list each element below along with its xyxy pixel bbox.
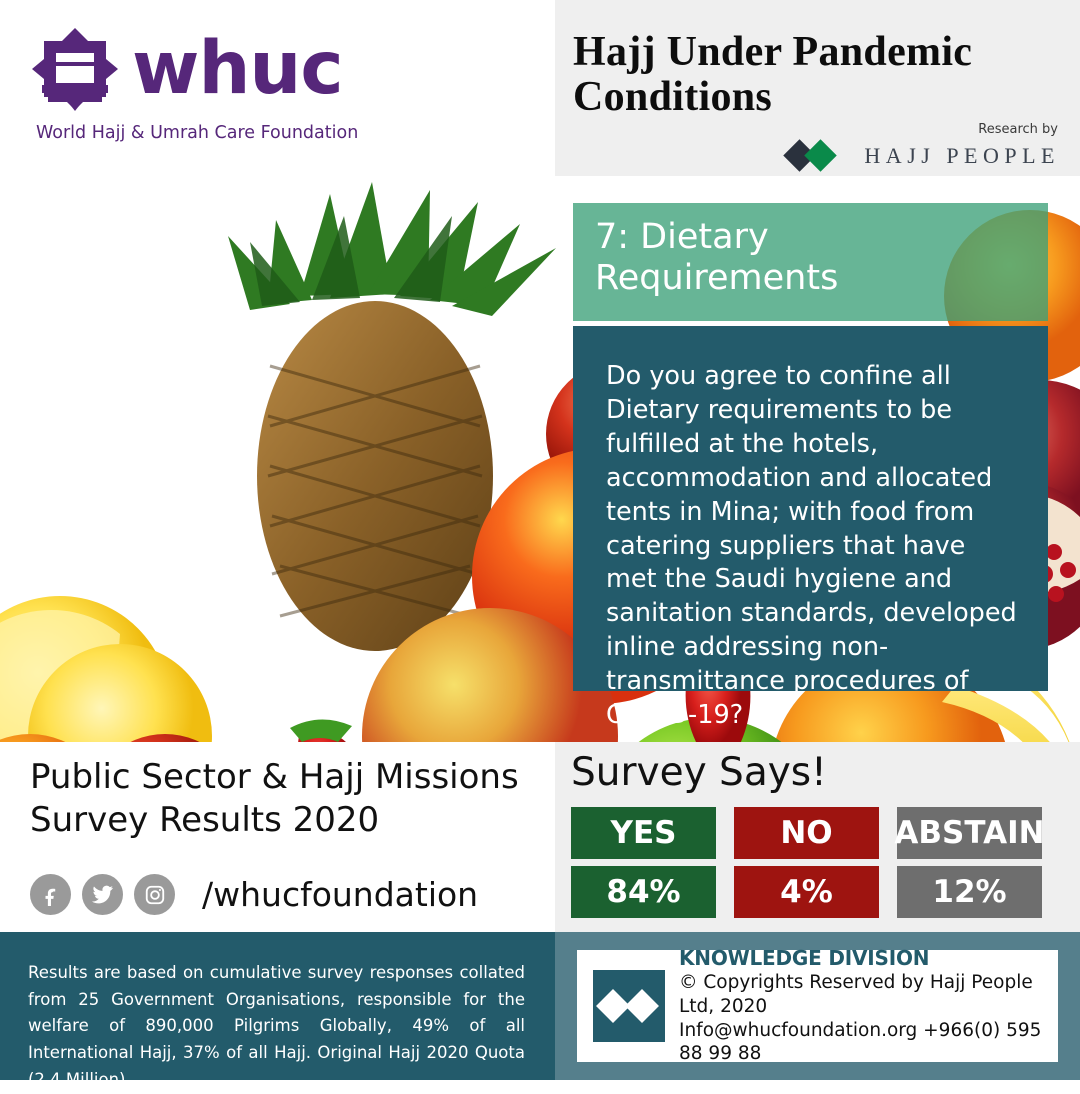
survey-option-abstain: ABSTAIN 12% [897, 807, 1042, 918]
survey-says-heading: Survey Says! [571, 750, 827, 795]
abstain-percent: 12% [897, 866, 1042, 918]
footer-credits-panel: KNOWLEDGE DIVISION © Copyrights Reserved… [555, 932, 1080, 1080]
header: whuc World Hajj & Umrah Care Foundation … [0, 0, 1080, 176]
methodology-note: Results are based on cumulative survey r… [28, 960, 525, 1094]
whuc-octagram-icon [32, 26, 118, 112]
knowledge-division-card: KNOWLEDGE DIVISION © Copyrights Reserved… [577, 950, 1058, 1062]
social-links: /whucfoundation [30, 874, 478, 915]
instagram-icon[interactable] [134, 874, 175, 915]
hajj-people-logo: HAJJ PEOPLE [788, 140, 1060, 172]
yes-percent: 84% [571, 866, 716, 918]
question-title: 7: Dietary Requirements [595, 217, 1026, 300]
survey-option-no: NO 4% [734, 807, 879, 918]
knowledge-division-diamonds-icon [593, 970, 665, 1042]
survey-results-grid: YES 84% NO 4% ABSTAIN 12% [571, 807, 1042, 918]
header-right-panel: Hajj Under Pandemic Conditions Research … [555, 0, 1080, 176]
no-percent: 4% [734, 866, 879, 918]
whuc-wordmark: whuc [132, 40, 343, 98]
knowledge-division-title: KNOWLEDGE DIVISION [679, 946, 1042, 972]
hajj-people-name: HAJJ PEOPLE [864, 143, 1060, 169]
header-left-panel: whuc World Hajj & Umrah Care Foundation [0, 0, 555, 176]
hajj-people-diamonds-icon [788, 140, 854, 172]
survey-results-heading: Public Sector & Hajj Missions Survey Res… [30, 756, 530, 841]
footer-note-panel: Results are based on cumulative survey r… [0, 932, 555, 1080]
research-by-label: Research by [978, 122, 1058, 137]
question-title-bar: 7: Dietary Requirements [573, 203, 1048, 321]
copyright-line: © Copyrights Reserved by Hajj People Ltd… [679, 971, 1042, 1018]
twitter-icon[interactable] [82, 874, 123, 915]
infographic-poster: whuc World Hajj & Umrah Care Foundation … [0, 0, 1080, 1080]
page-title: Hajj Under Pandemic Conditions [573, 30, 1073, 120]
question-body-panel: Do you agree to confine all Dietary requ… [573, 326, 1048, 691]
abstain-label: ABSTAIN [897, 807, 1042, 859]
contact-line: Info@whucfoundation.org +966(0) 595 88 9… [679, 1019, 1042, 1066]
facebook-icon[interactable] [30, 874, 71, 915]
survey-panel: Survey Says! YES 84% NO 4% ABSTAIN 12% [555, 742, 1080, 932]
results-left-panel: Public Sector & Hajj Missions Survey Res… [0, 742, 555, 932]
survey-option-yes: YES 84% [571, 807, 716, 918]
question-text: Do you agree to confine all Dietary requ… [606, 360, 1020, 733]
whuc-tagline: World Hajj & Umrah Care Foundation [36, 123, 358, 143]
yes-label: YES [571, 807, 716, 859]
whuc-brand: whuc World Hajj & Umrah Care Foundation [32, 26, 358, 143]
no-label: NO [734, 807, 879, 859]
social-handle[interactable]: /whucfoundation [202, 875, 478, 914]
